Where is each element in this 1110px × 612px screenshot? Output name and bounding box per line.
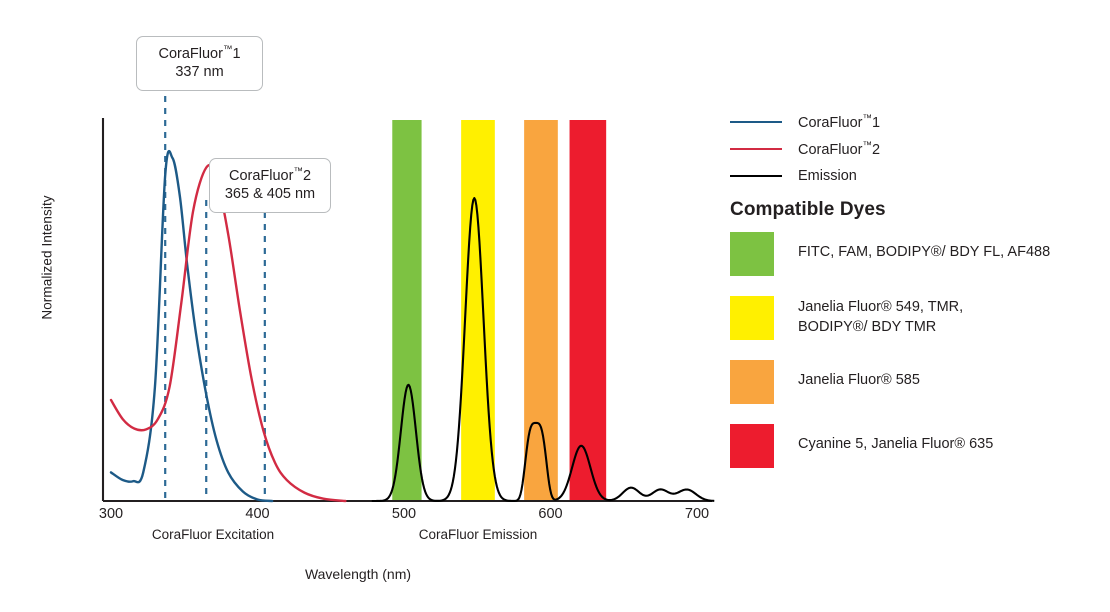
- x-tick-600: 600: [521, 506, 581, 522]
- dye-color-swatch: [730, 296, 774, 340]
- dye-label-line2: BODIPY®/ BDY TMR: [798, 318, 963, 338]
- dye-color-swatch: [730, 360, 774, 404]
- side-panel: CoraFluor™1CoraFluor™2Emission Compatibl…: [722, 0, 1110, 612]
- spectra-chart: 300400500600700 Normalized Intensity Wav…: [0, 0, 720, 612]
- dye-row-2: Janelia Fluor® 585: [730, 360, 1110, 404]
- dye-band-red: [570, 120, 607, 501]
- legend-line-swatch: [730, 148, 782, 150]
- legend-item-2: Emission: [730, 162, 1110, 189]
- dye-color-swatch: [730, 424, 774, 468]
- legend-item-0: CoraFluor™1: [730, 108, 1110, 135]
- corafluor2-excitation-curve: [111, 165, 345, 501]
- callout1-value: 337 nm: [149, 63, 250, 82]
- callout2-value: 365 & 405 nm: [222, 185, 318, 204]
- dye-label: Janelia Fluor® 549, TMR,BODIPY®/ BDY TMR: [798, 296, 963, 337]
- x-tick-400: 400: [228, 506, 288, 522]
- callout2-tm: ™: [293, 166, 303, 177]
- callout2-num: 2: [303, 168, 311, 184]
- dye-bands: [392, 120, 606, 501]
- callout-corafluor1: CoraFluor™1 337 nm: [136, 36, 263, 91]
- callout1-name: CoraFluor: [158, 46, 222, 62]
- dye-color-swatch: [730, 232, 774, 276]
- x-axis-title: Wavelength (nm): [258, 566, 458, 582]
- series-legend: CoraFluor™1CoraFluor™2Emission: [730, 108, 1110, 189]
- dye-label: FITC, FAM, BODIPY®/ BDY FL, AF488: [798, 232, 1050, 263]
- x-tick-300: 300: [81, 506, 141, 522]
- trademark-mark: ™: [862, 113, 872, 124]
- dye-row-3: Cyanine 5, Janelia Fluor® 635: [730, 424, 1110, 468]
- dye-row-1: Janelia Fluor® 549, TMR,BODIPY®/ BDY TMR: [730, 296, 1110, 340]
- x-tick-500: 500: [374, 506, 434, 522]
- callout1-num: 1: [232, 46, 240, 62]
- section-label-excitation: CoraFluor Excitation: [118, 527, 308, 542]
- legend-line-swatch: [730, 121, 782, 123]
- trademark-mark: ™: [862, 140, 872, 151]
- legend-item-label: CoraFluor™1: [798, 113, 880, 131]
- callout1-tm: ™: [223, 44, 233, 55]
- legend-item-label: Emission: [798, 168, 857, 184]
- dye-label: Janelia Fluor® 585: [798, 360, 920, 391]
- x-tick-700: 700: [667, 506, 727, 522]
- dye-label: Cyanine 5, Janelia Fluor® 635: [798, 424, 993, 455]
- legend-item-1: CoraFluor™2: [730, 135, 1110, 162]
- dye-band-orange: [524, 120, 558, 501]
- callout2-name: CoraFluor: [229, 168, 293, 184]
- y-axis-title: Normalized Intensity: [40, 178, 55, 338]
- legend-line-swatch: [730, 175, 782, 177]
- dye-row-0: FITC, FAM, BODIPY®/ BDY FL, AF488: [730, 232, 1110, 276]
- excitation-marker-lines: [165, 96, 265, 501]
- compatible-dyes-title: Compatible Dyes: [730, 199, 886, 221]
- callout-corafluor2: CoraFluor™2 365 & 405 nm: [209, 158, 331, 213]
- section-label-emission: CoraFluor Emission: [383, 527, 573, 542]
- legend-item-label: CoraFluor™2: [798, 140, 880, 158]
- compatible-dyes-list: FITC, FAM, BODIPY®/ BDY FL, AF488Janelia…: [730, 232, 1110, 488]
